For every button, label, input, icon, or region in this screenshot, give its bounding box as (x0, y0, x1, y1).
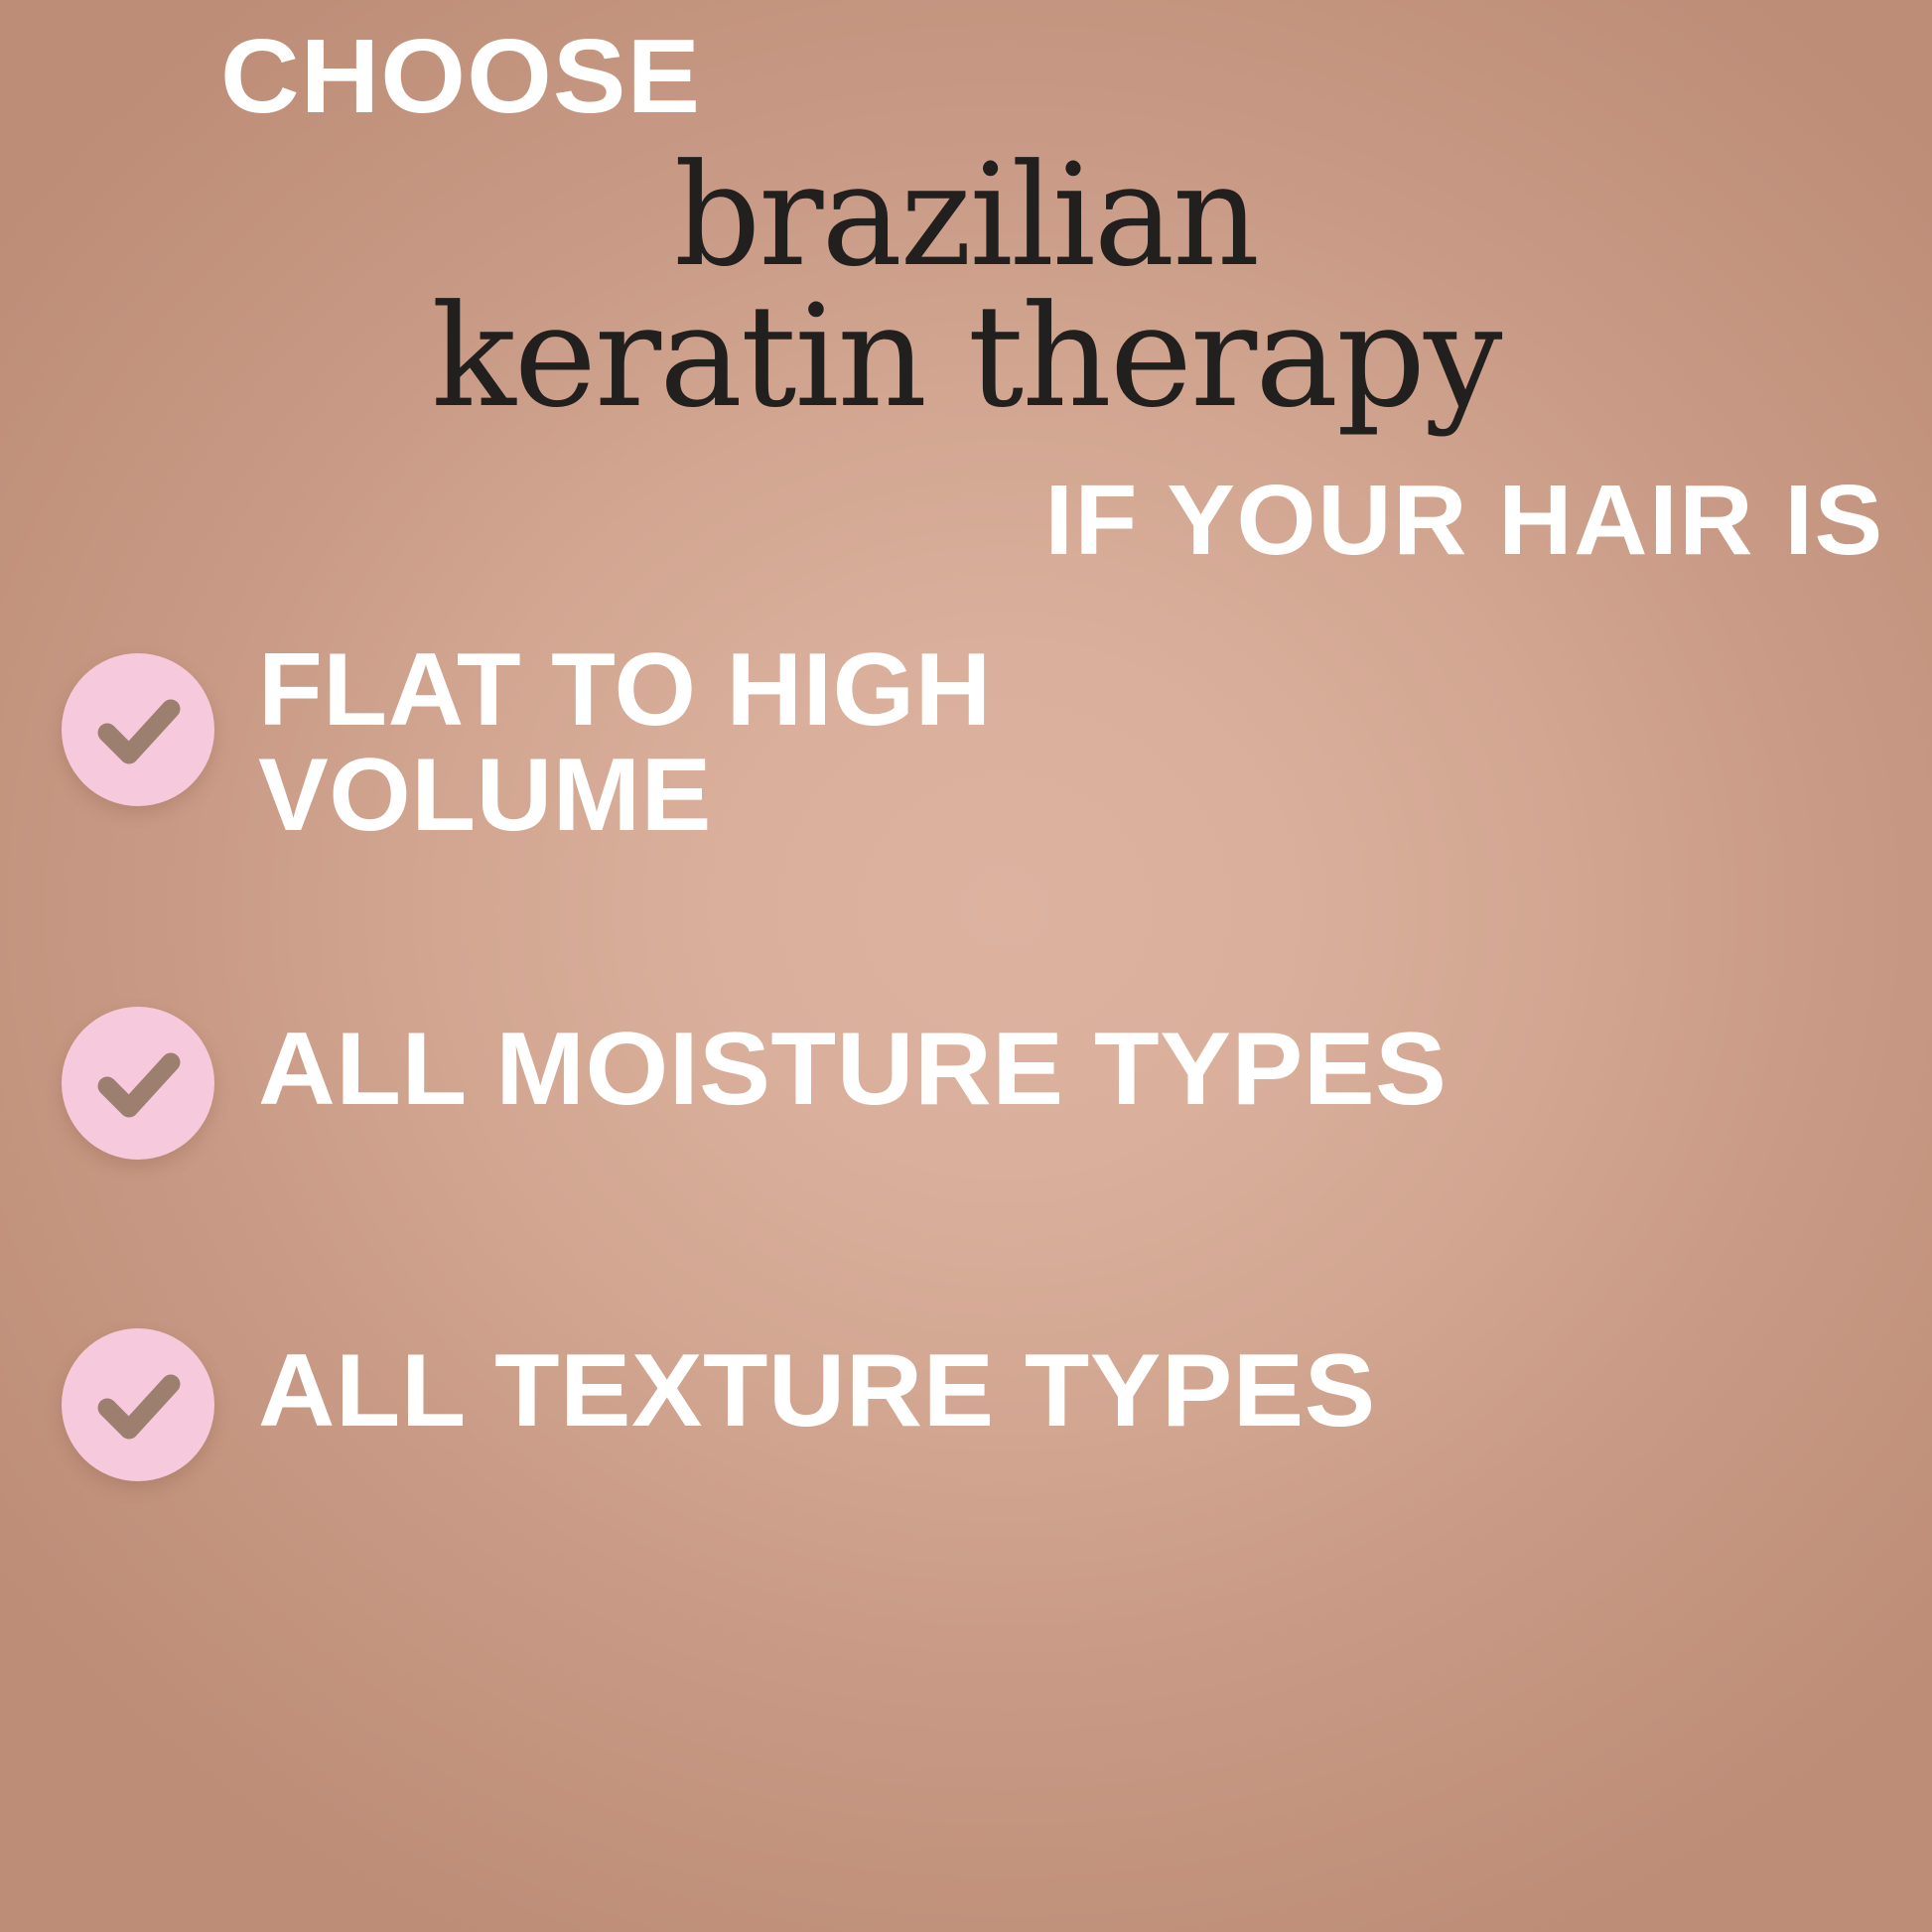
check-circle-icon (62, 1007, 214, 1160)
benefits-checklist: FLAT TO HIGH VOLUME ALL MOISTURE TYPES (0, 0, 1932, 1932)
checklist-item-label-line: ALL MOISTURE TYPES (258, 1017, 1932, 1122)
checklist-item-label: FLAT TO HIGH VOLUME (258, 637, 1902, 848)
check-circle-icon (62, 653, 214, 806)
checklist-item-label: ALL TEXTURE TYPES (258, 1338, 1902, 1444)
checklist-item: ALL TEXTURE TYPES (62, 1320, 1902, 1481)
checklist-item: FLAT TO HIGH VOLUME (62, 645, 1902, 848)
checklist-item-label-line: FLAT TO HIGH (258, 637, 1932, 743)
promo-poster: CHOOSE brazilian keratin therapy IF YOUR… (0, 0, 1932, 1932)
checklist-item-label-line: VOLUME (258, 743, 1932, 848)
checklist-item-label: ALL MOISTURE TYPES (258, 1017, 1902, 1122)
checklist-item: ALL MOISTURE TYPES (62, 999, 1902, 1160)
checklist-item-label-line: ALL TEXTURE TYPES (258, 1338, 1932, 1444)
check-circle-icon (62, 1328, 214, 1481)
